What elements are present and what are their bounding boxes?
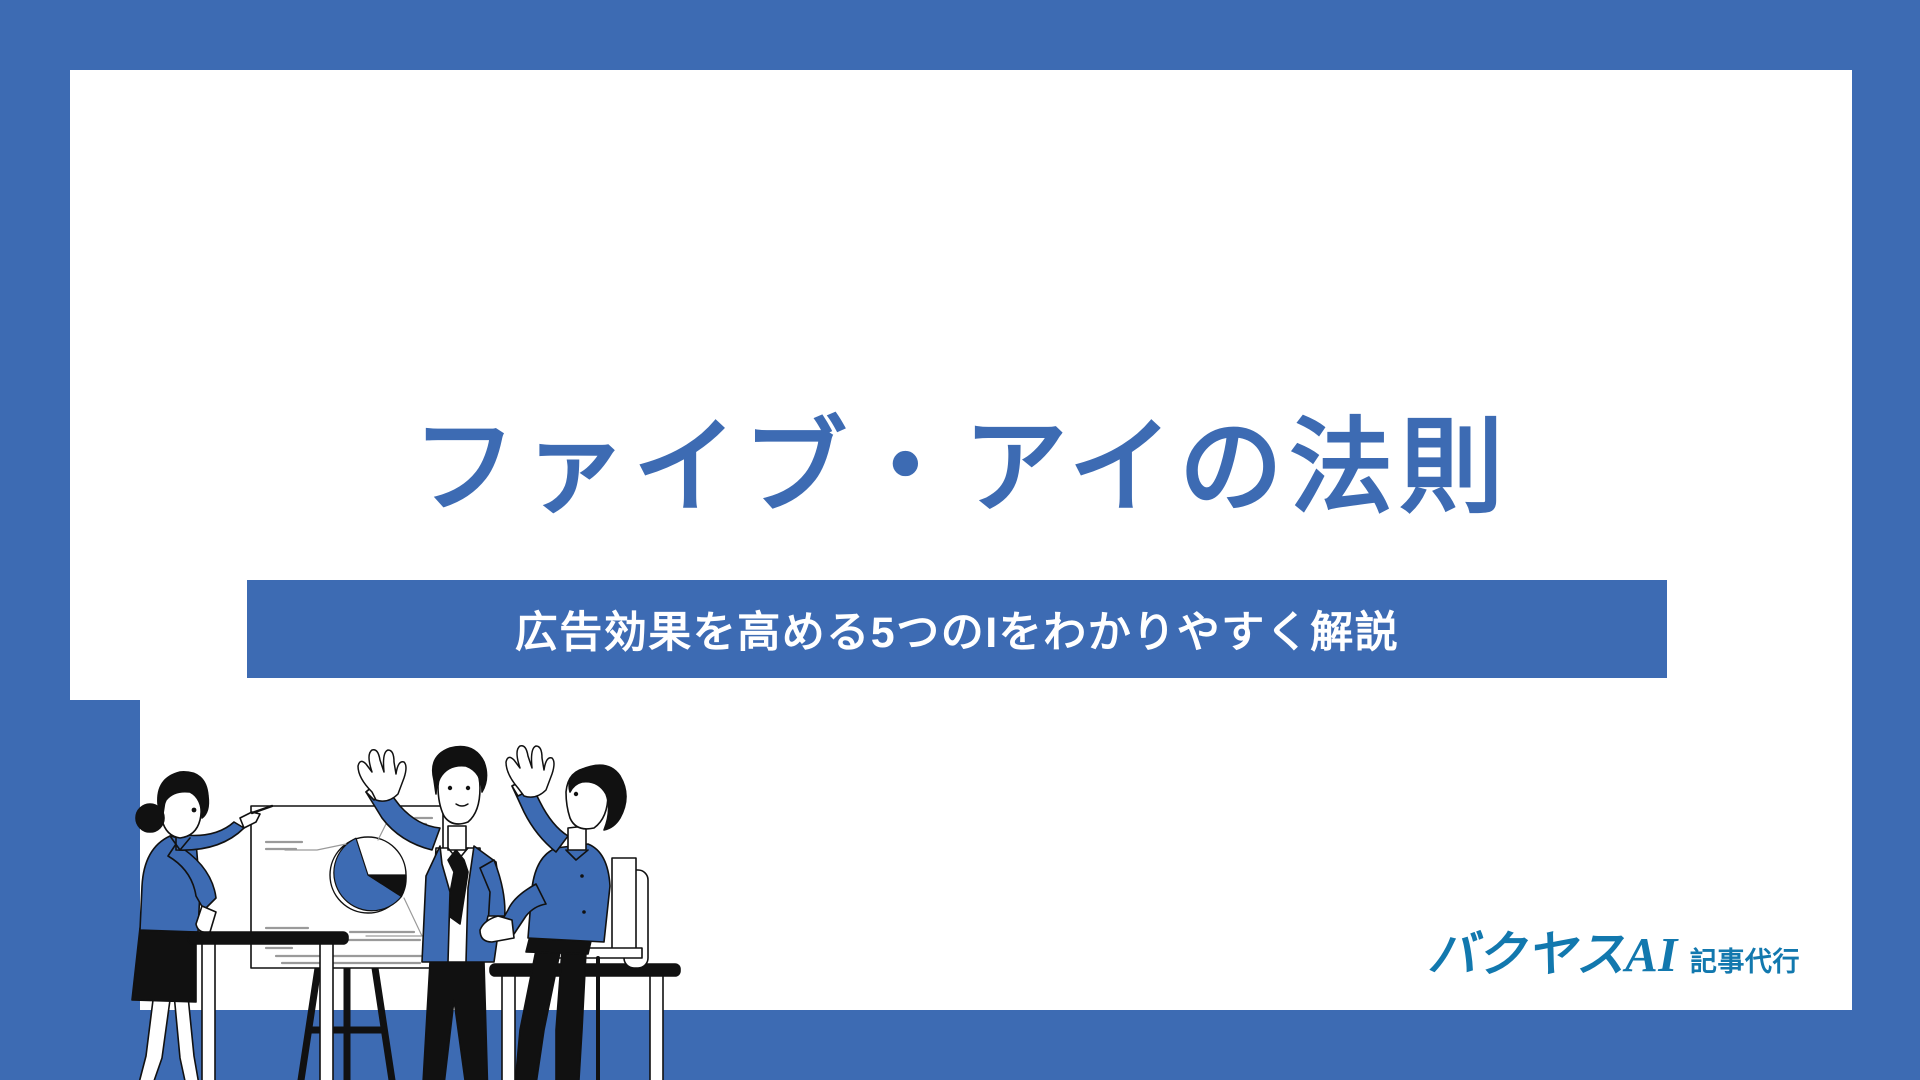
- man-arm-raised: [366, 780, 440, 850]
- desk-with-monitor: [490, 870, 680, 1080]
- desk-top: [490, 964, 680, 976]
- seated-man-hand-desk: [480, 916, 514, 942]
- left-background-strip: [70, 700, 140, 1078]
- woman-face: [162, 786, 201, 838]
- man-standing-raising-hand: [358, 747, 505, 1080]
- chart-poster: [251, 806, 443, 968]
- seated-man-leg-front: [514, 950, 560, 1080]
- woman-hand-on-table: [196, 906, 216, 932]
- monitor: [624, 870, 648, 968]
- pie-slice-black: [368, 875, 406, 897]
- woman-eye: [192, 808, 197, 813]
- man-eye-left: [448, 786, 452, 790]
- desk-leg-right: [650, 976, 663, 1080]
- brand-logo: バクヤスAI 記事代行: [1427, 915, 1800, 986]
- slide-root: ファイブ・アイの法則 広告効果を高める5つのIをわかりやすく解説 バクヤスAI …: [0, 0, 1920, 1080]
- woman-arm-pointing: [176, 822, 244, 850]
- standing-table-top: [188, 932, 348, 944]
- man-blazer-left: [422, 846, 450, 962]
- page-title: ファイブ・アイの法則: [70, 410, 1852, 526]
- seated-man-hair: [569, 765, 626, 830]
- easel-with-chart-poster: [251, 806, 443, 1080]
- seated-man-cuff: [512, 778, 534, 796]
- woman-arm-down: [168, 844, 216, 910]
- man-mouth: [456, 804, 468, 806]
- business-team-presentation-illustration: [70, 700, 710, 1080]
- seated-man-jacket: [528, 844, 610, 942]
- seated-man-eye: [574, 792, 578, 796]
- man-hand-raised: [358, 750, 406, 801]
- subtitle-band: 広告効果を高める5つのIをわかりやすく解説: [247, 580, 1667, 678]
- brand-logo-sub: 記事代行: [1690, 940, 1800, 979]
- white-content-card: ファイブ・アイの法則 広告効果を高める5つのIをわかりやすく解説 バクヤスAI …: [70, 70, 1852, 1010]
- woman-skirt: [132, 926, 196, 1002]
- woman-hair: [158, 772, 209, 818]
- pen: [252, 806, 272, 813]
- man-arm-pocket: [480, 860, 505, 926]
- man-cuff-raised: [366, 780, 388, 800]
- woman-pointing-at-chart: [120, 772, 272, 1080]
- man-face: [438, 760, 480, 824]
- man-shirt: [430, 848, 484, 962]
- woman-blouse: [140, 836, 200, 932]
- jacket-button-top: [580, 874, 584, 878]
- man-cuff-pocket: [484, 916, 504, 934]
- chair-seat: [554, 948, 642, 958]
- standing-table-leg-left: [202, 944, 215, 1080]
- seated-man-face: [566, 768, 608, 829]
- pie-slice-blue: [334, 838, 402, 911]
- seated-man-leg-back: [556, 950, 586, 1080]
- standing-table-leg-right: [320, 944, 333, 1080]
- woman-hand-pointing: [240, 812, 260, 828]
- brand-logo-main: バクヤスAI: [1427, 915, 1678, 986]
- jacket-button-bottom: [582, 910, 586, 914]
- man-blazer-right: [466, 846, 502, 962]
- seated-man-arm-raised: [512, 778, 568, 852]
- seated-man-hand-raised: [506, 746, 554, 797]
- woman-hair-bun: [136, 804, 164, 832]
- pie-chart: [285, 824, 422, 936]
- man-trousers: [422, 962, 488, 1080]
- man-eye-right: [466, 786, 470, 790]
- chair-backrest: [612, 858, 636, 950]
- standing-table: [188, 932, 348, 1080]
- man-hair: [433, 747, 487, 794]
- desk-leg-left: [502, 976, 515, 1080]
- man-tie: [446, 850, 468, 924]
- seated-man-thighs: [526, 928, 594, 954]
- office-chair: [554, 858, 642, 1080]
- seated-man-raising-hand: [480, 746, 626, 1080]
- poster-text-lines: [266, 818, 432, 963]
- subtitle-text: 広告効果を高める5つのIをわかりやすく解説: [515, 598, 1399, 660]
- seated-man-arm-desk: [500, 884, 546, 934]
